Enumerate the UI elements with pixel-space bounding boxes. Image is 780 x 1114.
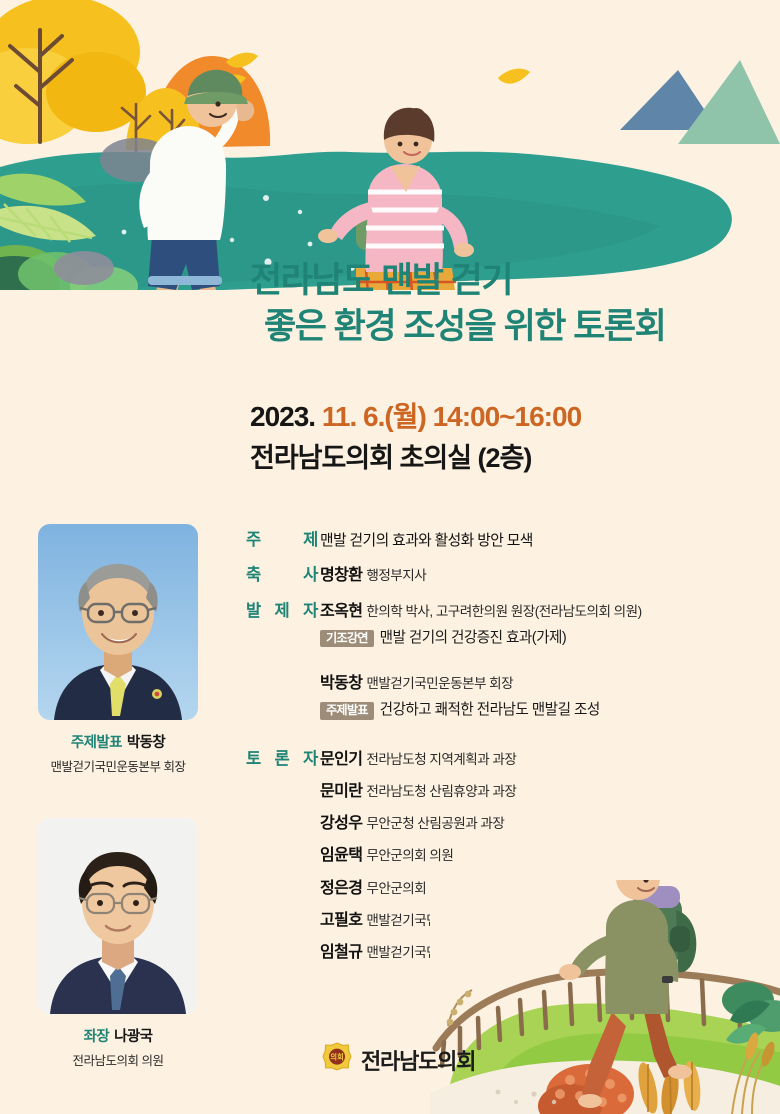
program-row-presenter: 발 제 자 조옥현한의학 박사, 고구려한의원 원장(전라남도의회 의원) <box>246 597 766 623</box>
discussant-desc-2: 무안군청 산림공원과 과장 <box>366 816 504 831</box>
discussant-name-3: 임윤택 <box>320 847 362 864</box>
date-line: 2023. 11. 6.(월) 14:00~16:00 <box>250 398 770 436</box>
program-row-discussant-3: 임윤택무안군의회 의원 <box>246 844 766 867</box>
program-row-discussant-0: 토 론 자 문인기전라남도청 지역계획과 과장 <box>246 745 766 771</box>
keynote-badge: 기조강연 <box>320 630 374 648</box>
discussant-name-5: 고필호 <box>320 912 362 929</box>
title-line-2: 좋은 환경 조성을 위한 토론회 <box>250 304 770 350</box>
event-year: 2023. <box>250 401 315 432</box>
speaker-photo-na <box>38 818 198 1014</box>
discussant-line-1: 문미란전라남도청 산림휴양과 과장 <box>320 780 766 803</box>
presentation-title: 건강하고 쾌적한 전라남도 맨발길 조성 <box>380 702 600 718</box>
discussant-name-1: 문미란 <box>320 783 362 800</box>
program-label-congratulation: 축 사 <box>246 561 320 585</box>
discussant-name-0: 문인기 <box>320 751 362 768</box>
discussant-line-3: 임윤택무안군의회 의원 <box>320 844 766 867</box>
program-row-congratulation: 축 사 명창환행정부지사 <box>246 561 766 587</box>
program-row-presenter2: 박동창맨발걷기국민운동본부 회장 <box>246 672 766 695</box>
speaker-role-park: 주제발표 <box>71 735 122 751</box>
keynote-line: 기조강연맨발 걷기의 건강증진 효과(가제) <box>320 628 766 649</box>
footer-organization: 전라남도의회 <box>361 1044 475 1076</box>
topic-text: 맨발 걷기의 효과와 활성화 방안 모색 <box>320 533 533 549</box>
presenter2-desc: 맨발걷기국민운동본부 회장 <box>366 676 513 691</box>
presentation-badge: 주제발표 <box>320 702 374 720</box>
speaker-role-na: 좌장 <box>84 1029 109 1045</box>
program-value-congratulation: 명창환행정부지사 <box>320 564 766 587</box>
program-label-discussants: 토 론 자 <box>246 745 320 769</box>
program-row-discussant-1: 문미란전라남도청 산림휴양과 과장 <box>246 780 766 803</box>
congratulation-name: 명창환 <box>320 567 362 584</box>
autumn-tree <box>0 0 146 144</box>
event-poster: 전라남도 맨발 걷기 좋은 환경 조성을 위한 토론회 2023. 11. 6.… <box>0 0 780 1114</box>
presenter-name: 조옥현 <box>320 603 362 620</box>
discussant-name-4: 정은경 <box>320 880 362 897</box>
program-row-keynote: 기조강연맨발 걷기의 건강증진 효과(가제) <box>246 628 766 649</box>
presenter-desc: 한의학 박사, 고구려한의원 원장(전라남도의회 의원) <box>366 604 641 619</box>
program-row-discussant-2: 강성우무안군청 산림공원과 과장 <box>246 812 766 835</box>
speaker-name-na: 나광국 <box>114 1029 152 1045</box>
program-row-topic: 주 제 맨발 걷기의 효과와 활성화 방안 모색 <box>246 526 766 552</box>
speaker-caption-park: 주제발표박동창 <box>18 731 218 752</box>
assembly-emblem-icon: 의회 <box>322 1042 352 1077</box>
poster-title: 전라남도 맨발 걷기 좋은 환경 조성을 위한 토론회 <box>250 258 770 350</box>
program-label-topic: 주 제 <box>246 526 320 550</box>
event-time: 14:00~16:00 <box>433 401 582 432</box>
discussant-name-2: 강성우 <box>320 815 362 832</box>
keynote-title: 맨발 걷기의 건강증진 효과(가제) <box>380 630 567 646</box>
program-spacer <box>246 658 766 672</box>
discussant-line-2: 강성우무안군청 산림공원과 과장 <box>320 812 766 835</box>
presenter2-name: 박동창 <box>320 675 362 692</box>
title-line-1: 전라남도 맨발 걷기 <box>250 258 770 304</box>
program-value-presenter: 조옥현한의학 박사, 고구려한의원 원장(전라남도의회 의원) <box>320 600 766 623</box>
speaker-affiliation-park: 맨발걷기국민운동본부 회장 <box>18 756 218 775</box>
bottom-illustration <box>430 880 780 1114</box>
svg-text:의회: 의회 <box>330 1053 344 1062</box>
datetime-venue: 2023. 11. 6.(월) 14:00~16:00 전라남도의회 초의실 (… <box>250 398 770 478</box>
mountain-decoration <box>580 30 780 160</box>
speaker-caption-na: 좌장나광국 <box>18 1025 218 1046</box>
presentation-line: 주제발표건강하고 쾌적한 전라남도 맨발길 조성 <box>320 700 766 721</box>
program-value-topic: 맨발 걷기의 효과와 활성화 방안 모색 <box>320 531 766 552</box>
speaker-affiliation-na: 전라남도의회 의원 <box>18 1050 218 1069</box>
event-venue: 전라남도의회 초의실 (2층) <box>250 440 770 478</box>
discussant-desc-1: 전라남도청 산림휴양과 과장 <box>366 784 516 799</box>
speaker-photo-park <box>38 524 198 720</box>
presenter2-line: 박동창맨발걷기국민운동본부 회장 <box>320 672 766 695</box>
event-date: 11. 6.(월) <box>322 401 426 432</box>
speaker-card-na: 좌장나광국 전라남도의회 의원 <box>18 818 218 1069</box>
program-label-presenter: 발 제 자 <box>246 597 320 621</box>
discussant-desc-3: 무안군의회 의원 <box>366 848 453 863</box>
footer-logo: 의회 전라남도의회 <box>322 1042 475 1077</box>
speaker-name-park: 박동창 <box>127 735 165 751</box>
program-spacer-2 <box>246 731 766 745</box>
program-row-presentation: 주제발표건강하고 쾌적한 전라남도 맨발길 조성 <box>246 700 766 721</box>
congratulation-desc: 행정부지사 <box>366 568 426 583</box>
discussant-line-0: 문인기전라남도청 지역계획과 과장 <box>320 748 766 771</box>
discussant-name-6: 임철규 <box>320 944 362 961</box>
speaker-card-park: 주제발표박동창 맨발걷기국민운동본부 회장 <box>18 524 218 775</box>
discussant-desc-0: 전라남도청 지역계획과 과장 <box>366 752 516 767</box>
